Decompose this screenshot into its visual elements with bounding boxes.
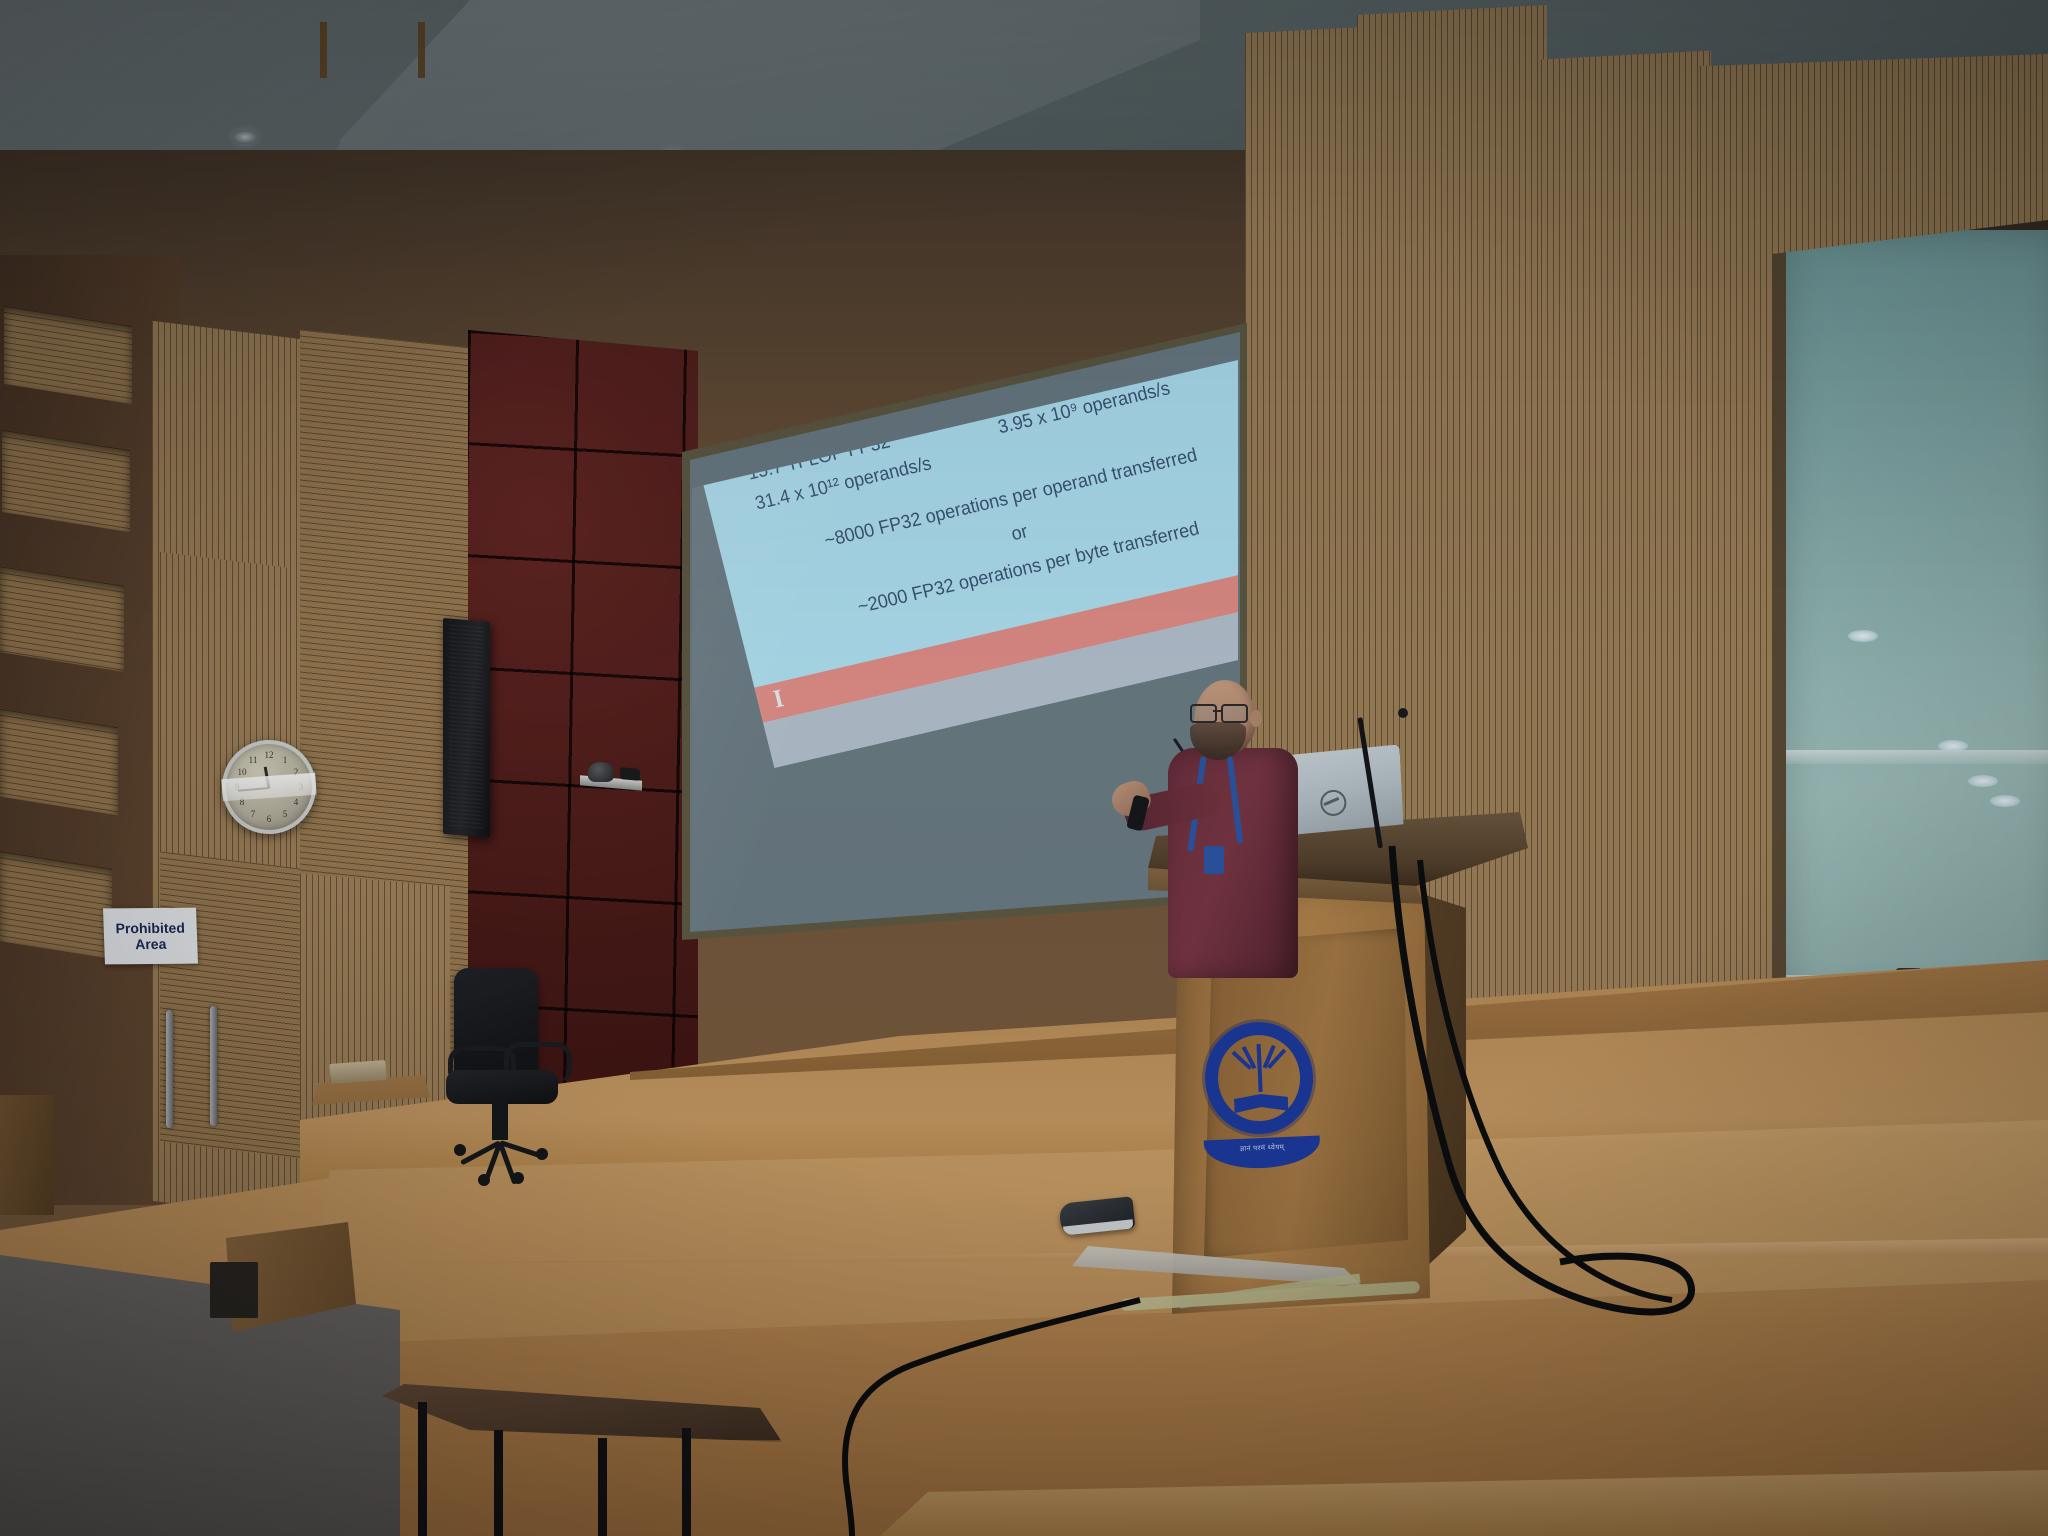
office-chair: [438, 968, 578, 1178]
speaker-grille: [449, 624, 484, 831]
clock-numeral: 6: [267, 814, 272, 824]
window-light-reflection: [1968, 775, 1998, 787]
microphone-head-icon: [1398, 708, 1408, 718]
shelf-device: [620, 767, 640, 781]
wall-clock: 12 1 2 3 4 5 6 7 8 9 10 11: [222, 740, 316, 834]
prohibited-area-sign: Prohibited Area: [103, 908, 198, 965]
sign-line-2: Area: [135, 936, 167, 952]
stool-leg: [494, 1430, 503, 1536]
chair-caster: [512, 1172, 524, 1184]
sign-line-1: Prohibited: [115, 920, 185, 937]
glasses-bridge: [1213, 710, 1221, 712]
stool-leg: [598, 1438, 607, 1536]
clock-numeral: 5: [283, 809, 288, 819]
camera-icon: [588, 762, 614, 782]
window-light-reflection: [1848, 630, 1878, 642]
door-handle[interactable]: [210, 1006, 217, 1126]
slide-title: Why GPU Interconnect Bandwidth?: [697, 300, 1067, 379]
projection-booth-window: [1772, 220, 2048, 1000]
stool-tabletop: [382, 1366, 782, 1440]
glasses-icon: [1190, 704, 1250, 720]
stool-leg: [682, 1428, 691, 1536]
left-wall-slat-panel-3: [160, 851, 300, 1158]
floor-crate-dark: [210, 1262, 258, 1318]
side-table-leg: [320, 22, 327, 78]
glasses-lens-left: [1190, 704, 1217, 723]
clock-numeral: 4: [294, 797, 299, 807]
chair-caster: [536, 1148, 548, 1160]
clock-glass-glare: [221, 773, 316, 802]
clock-numeral: 7: [251, 809, 256, 819]
clock-numeral: 10: [238, 767, 247, 777]
clock-numeral: 11: [249, 755, 258, 765]
table-item: [329, 1060, 386, 1084]
wooden-stool-table: [382, 1366, 782, 1536]
side-table-leg: [418, 22, 425, 78]
conference-badge: [1204, 846, 1224, 874]
clock-numeral: 12: [265, 750, 274, 760]
wall-speaker: [443, 618, 490, 838]
lecture-hall-photo: 12 1 2 3 4 5 6 7 8 9 10 11 Prohibited Ar…: [0, 0, 2048, 1536]
chair-caster: [478, 1174, 490, 1186]
window-light-reflection: [1990, 795, 2020, 807]
window-light-strip: [1786, 750, 2048, 764]
presenter-ear: [1250, 710, 1262, 727]
clock-numeral: 1: [283, 755, 288, 765]
stool-leg: [418, 1402, 427, 1536]
ceiling-downlight-icon: [232, 130, 258, 144]
chair-base: [452, 1134, 552, 1148]
glasses-lens-right: [1221, 704, 1248, 723]
presenter: [1112, 670, 1342, 1270]
chair-caster: [454, 1144, 466, 1156]
left-floor-panel: [0, 1095, 54, 1215]
door-handle[interactable]: [166, 1010, 173, 1128]
window-light-reflection: [1938, 740, 1968, 752]
wall-recess: [0, 709, 118, 816]
wall-recess: [0, 851, 112, 959]
right-wall-slat-column-3: [1541, 51, 1711, 1080]
